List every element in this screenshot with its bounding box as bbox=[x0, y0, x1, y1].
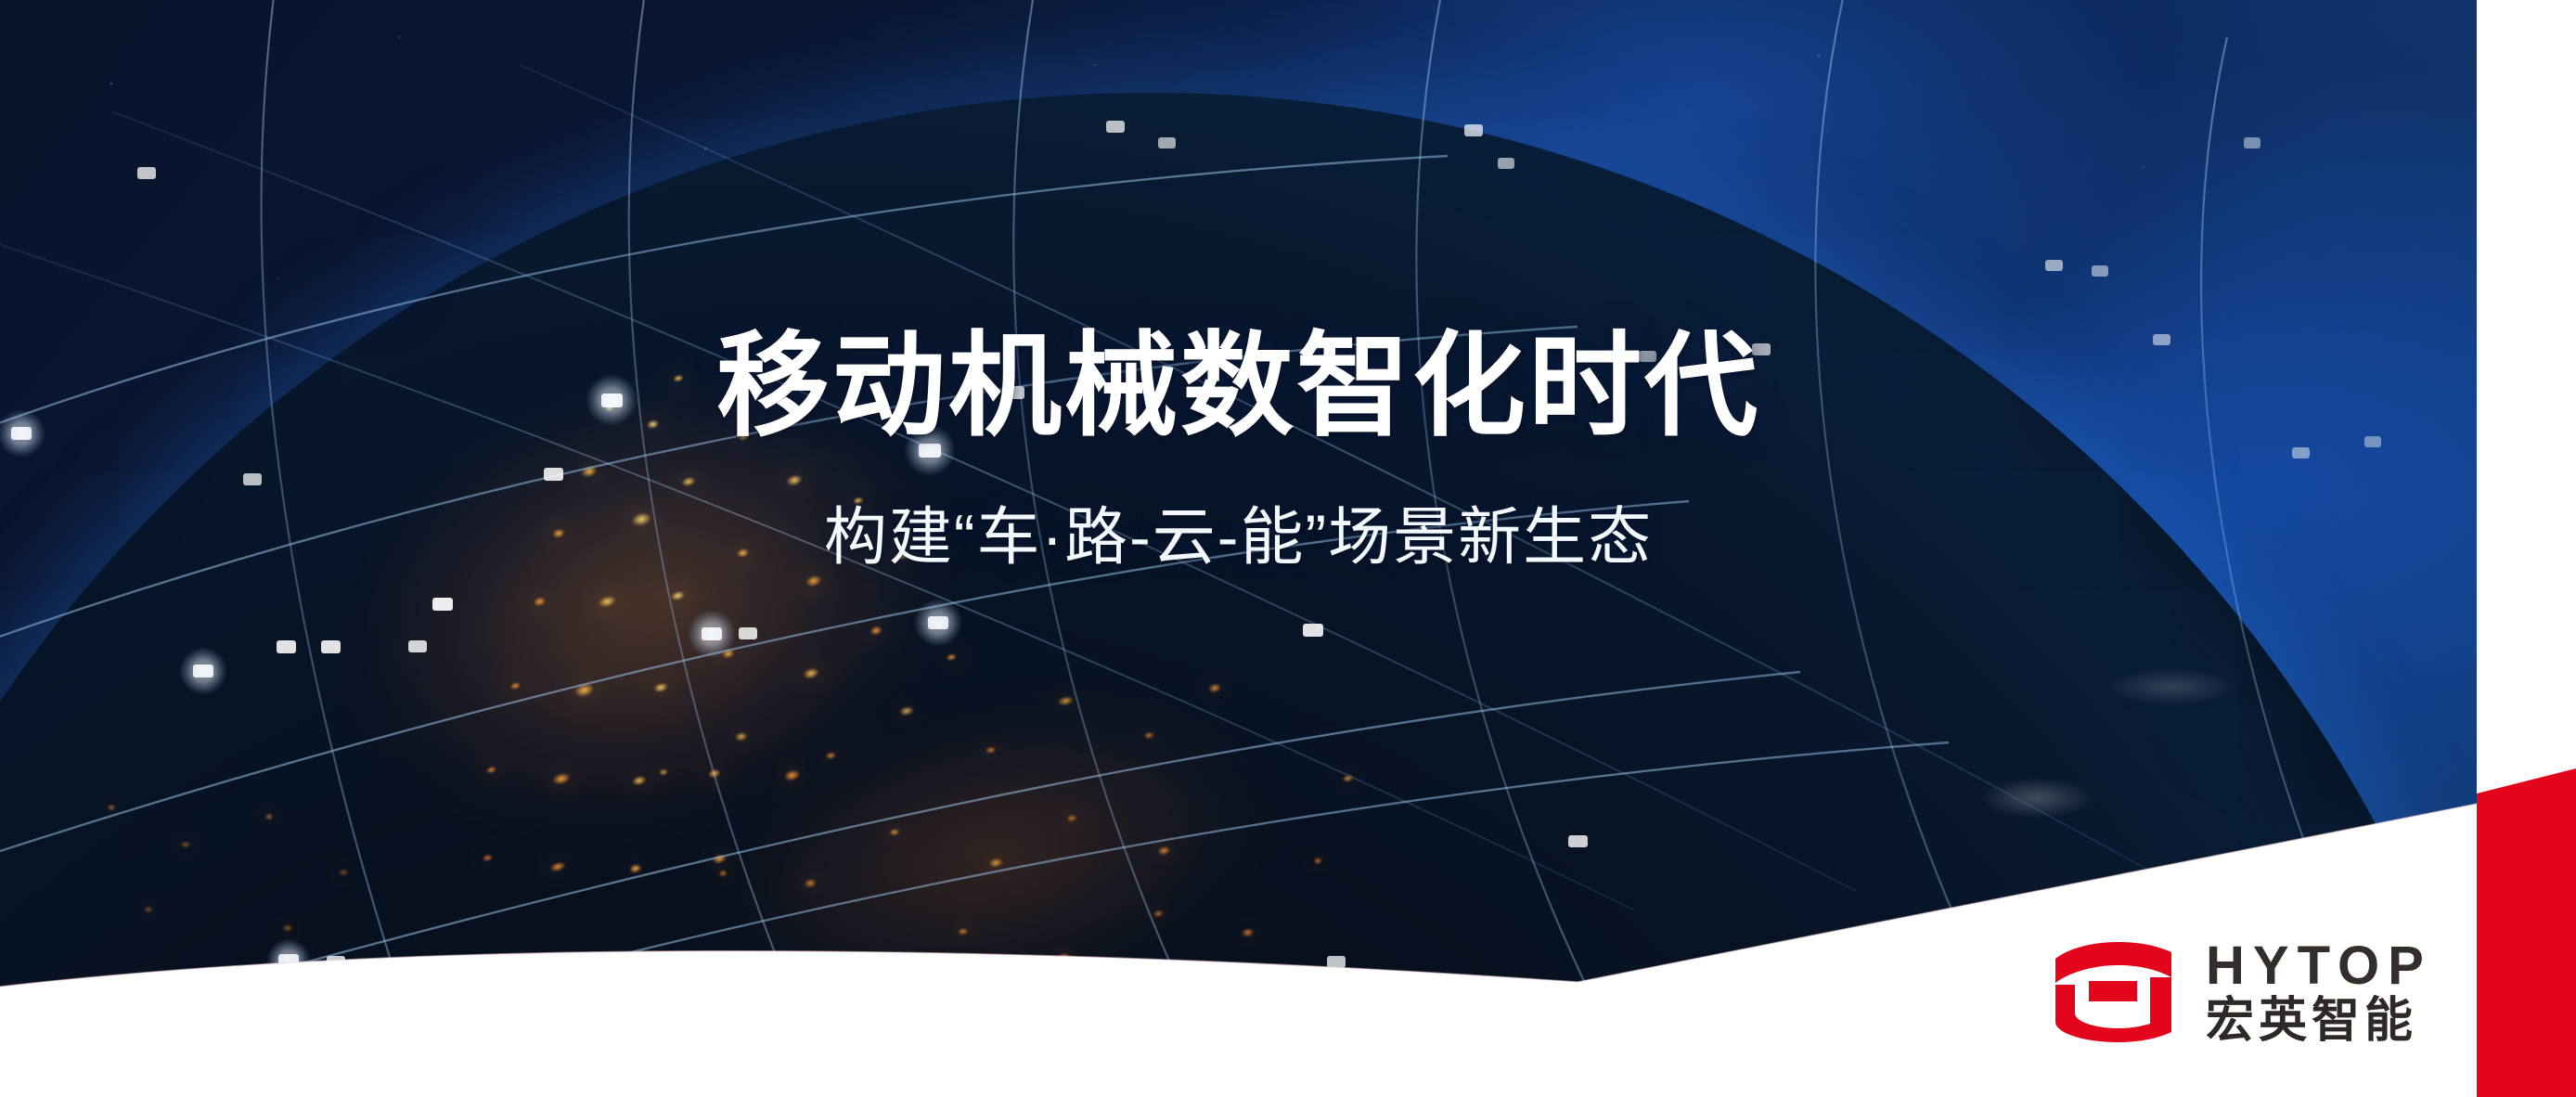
hytop-g-mark-icon bbox=[2055, 940, 2182, 1044]
logo-wordmark: HYTOP bbox=[2206, 939, 2432, 993]
logo-chinese-name: 宏英智能 bbox=[2206, 997, 2432, 1045]
logo-text-block: HYTOP 宏英智能 bbox=[2206, 939, 2432, 1045]
red-accent-stripe bbox=[2477, 768, 2576, 1097]
title-slide: 移动机械数智化时代 构建“车·路-云-能”场景新生态 HYTOP 宏英智能 bbox=[0, 0, 2576, 1097]
hytop-logo: HYTOP 宏英智能 bbox=[2055, 939, 2432, 1045]
space-background: 移动机械数智化时代 构建“车·路-云-能”场景新生态 bbox=[0, 0, 2477, 1097]
network-mesh bbox=[0, 0, 2477, 1097]
